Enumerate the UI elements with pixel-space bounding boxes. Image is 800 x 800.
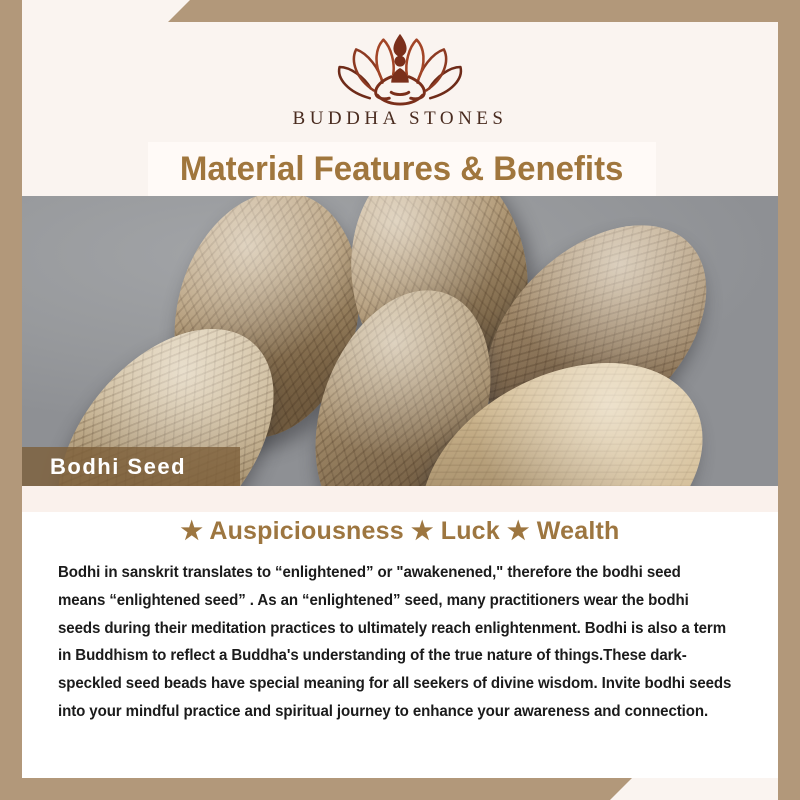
frame-border-bottom	[0, 778, 800, 800]
poster: BUDDHA STONES Material Features & Benefi…	[0, 0, 800, 800]
benefits-heading: ★ Auspiciousness ★ Luck ★ Wealth	[22, 486, 778, 546]
page-title: Material Features & Benefits	[180, 150, 624, 189]
title-banner: Material Features & Benefits	[148, 142, 656, 196]
description-panel: ★ Auspiciousness ★ Luck ★ Wealth Bodhi i…	[22, 486, 778, 778]
photo-caption-bar: Bodhi Seed	[22, 447, 240, 486]
photo-inner	[22, 196, 778, 486]
frame-border-top	[0, 0, 800, 22]
description-paragraph: Bodhi in sanskrit translates to “enlight…	[58, 559, 732, 726]
frame-border-right	[778, 0, 800, 800]
lotus-meditation-figure-icon	[325, 28, 475, 106]
brand-header: BUDDHA STONES	[22, 22, 778, 142]
photo-caption-label: Bodhi Seed	[22, 454, 186, 480]
frame-border-left	[0, 0, 22, 800]
bodhi-seed-photo	[22, 196, 778, 486]
brand-name: BUDDHA STONES	[293, 108, 508, 130]
